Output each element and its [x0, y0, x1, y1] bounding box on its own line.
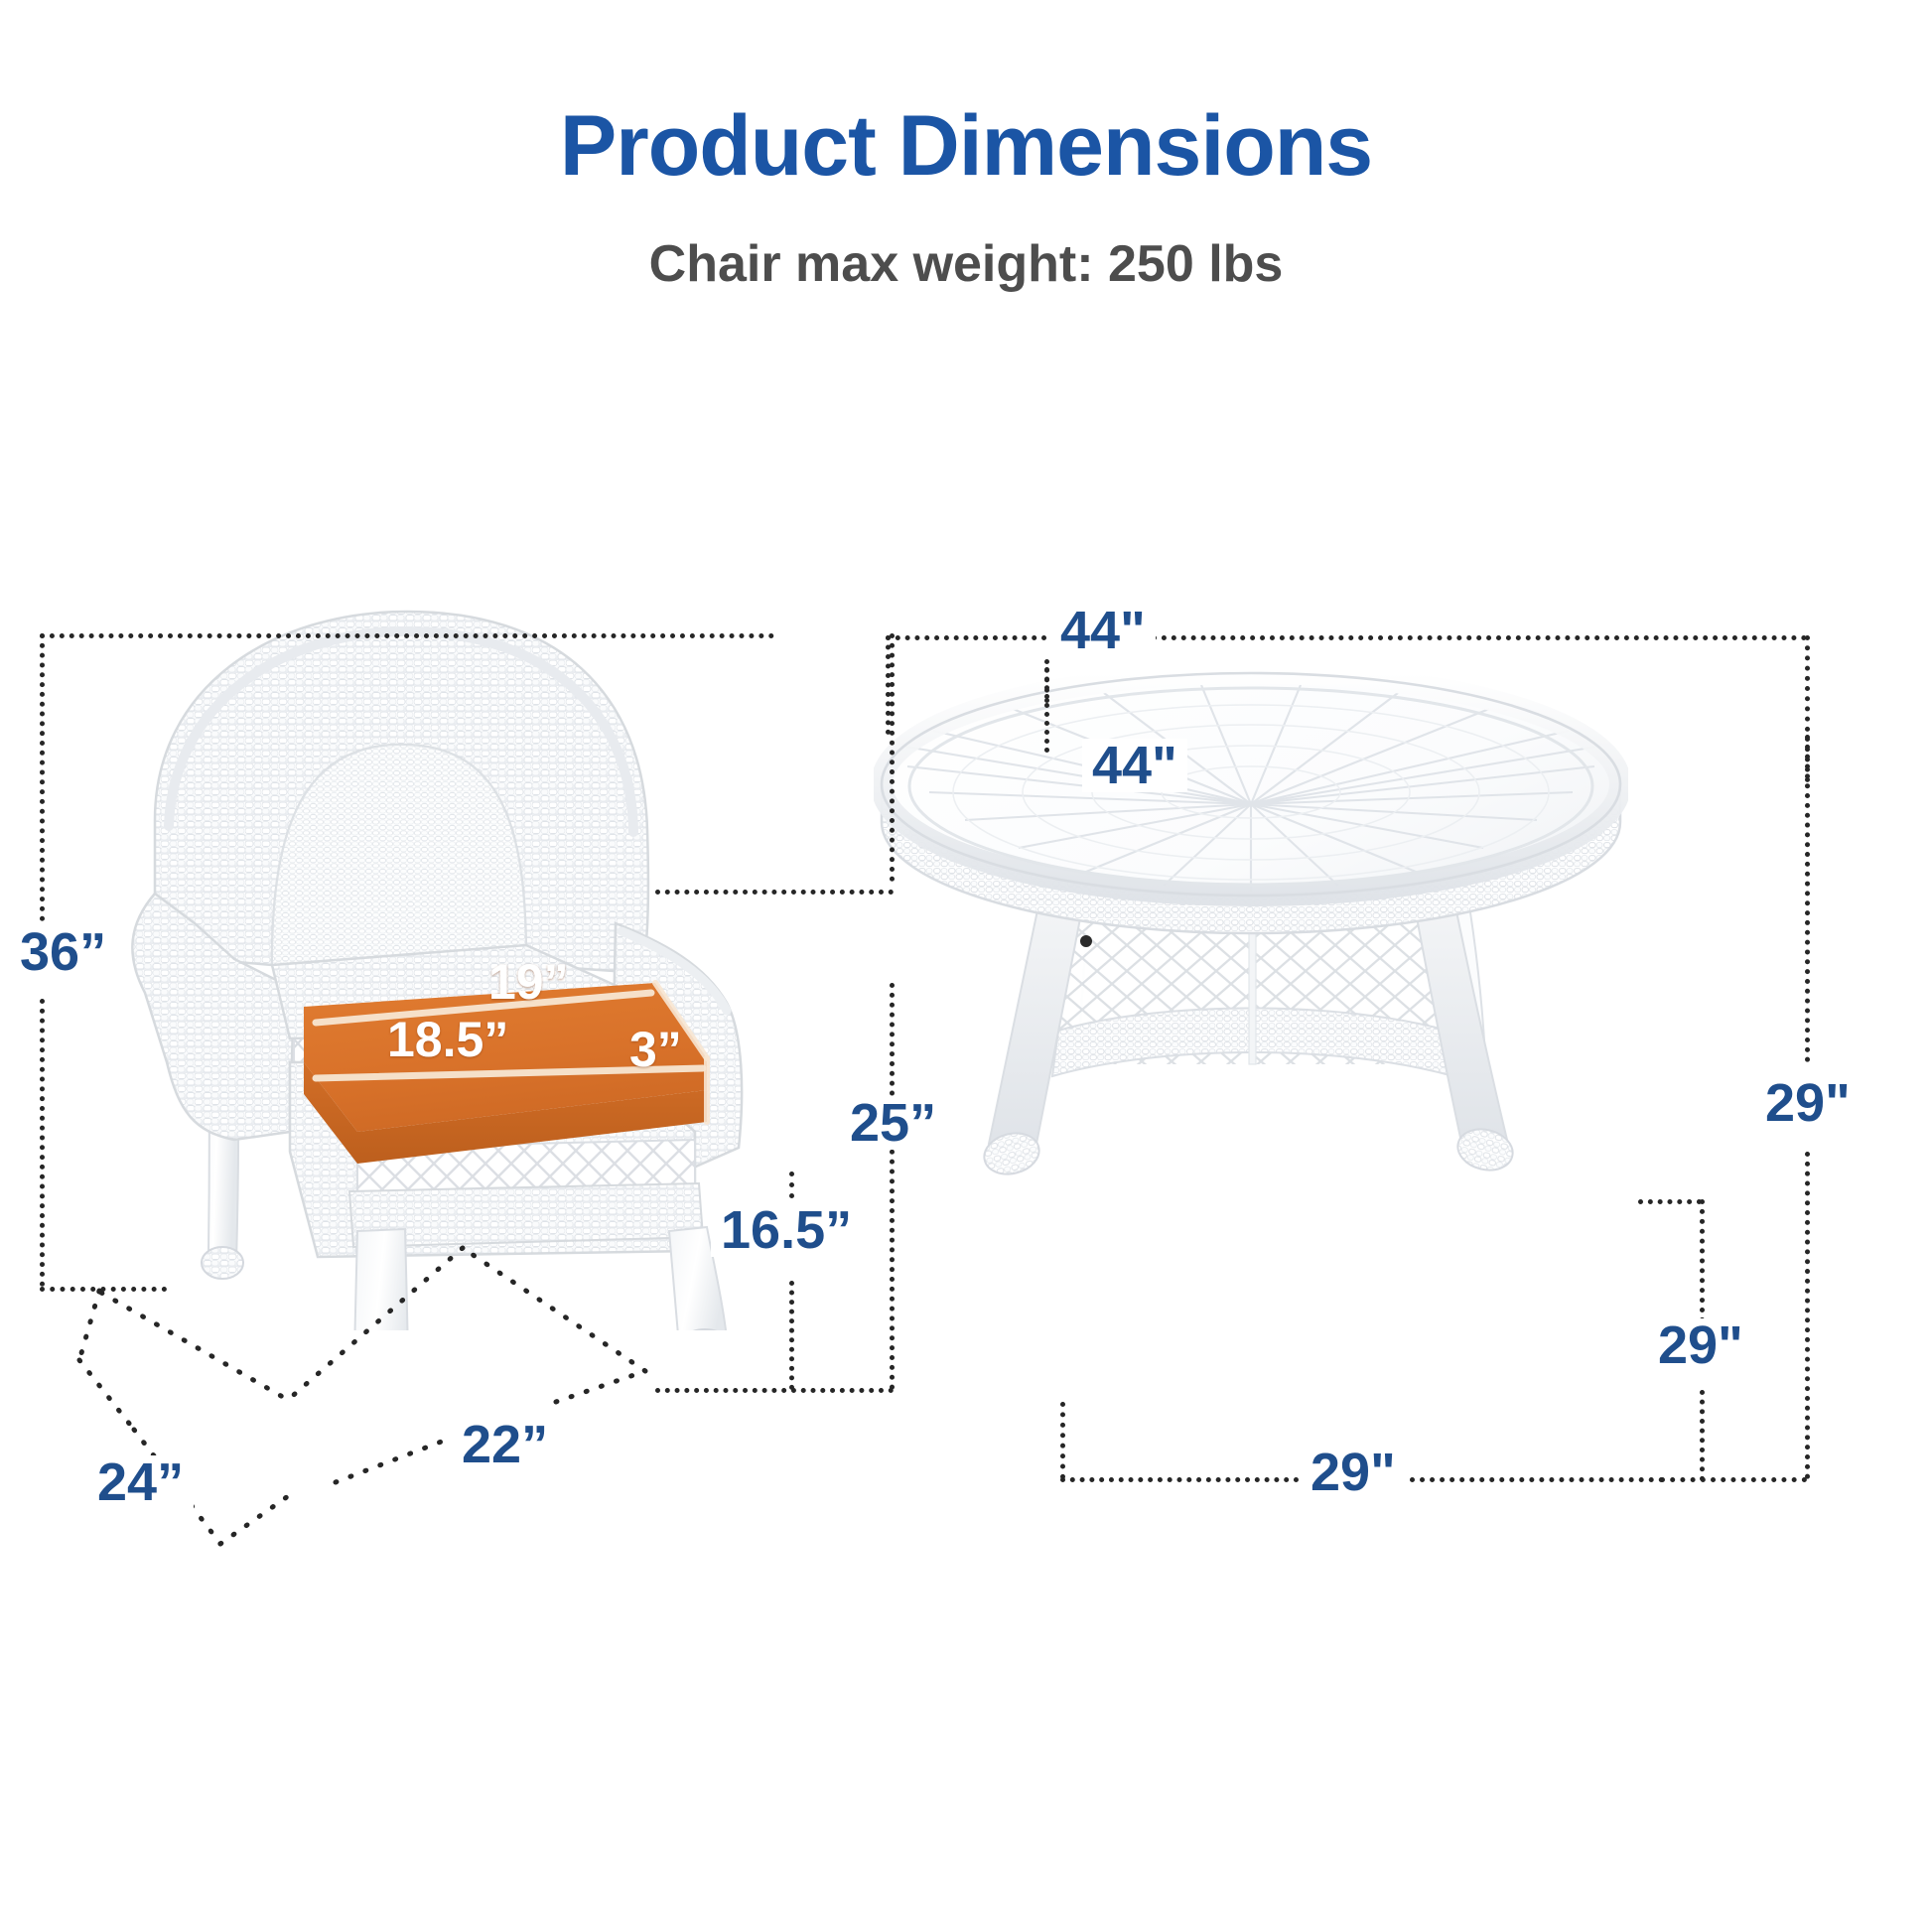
chair-floor-outline — [0, 0, 1932, 1932]
table-44in-depth-label: 44" — [1082, 739, 1187, 792]
table-29in-bottom-a — [1060, 1477, 1309, 1482]
table-29in-bottom-b — [1410, 1477, 1664, 1482]
chair-3in-label: 3” — [629, 1025, 682, 1074]
table-29in-inner-rule-b — [1700, 1390, 1705, 1481]
table-44in-depth-rule-a — [1044, 703, 1049, 753]
table-44in-depth-rule-c — [1044, 667, 1049, 703]
table-44in-rule-a — [886, 635, 1056, 640]
table-29in-width-label: 29" — [1301, 1446, 1406, 1499]
table-29in-inner-rule-a — [1700, 1199, 1705, 1322]
chair-22in-label: 22” — [452, 1418, 558, 1471]
product-dimensions-diagram: Product Dimensions Chair max weight: 250… — [0, 0, 1932, 1932]
table-29in-base-label: 29" — [1648, 1318, 1753, 1372]
chair-18-5in-label: 18.5” — [387, 1015, 508, 1064]
table-29in-inner-top — [1638, 1199, 1702, 1204]
table-44in-top-label: 44" — [1050, 604, 1156, 657]
table-44in-rule-b — [1152, 635, 1807, 640]
table-29in-height-label: 29" — [1755, 1076, 1861, 1130]
table-29in-outer-bot — [1660, 1477, 1807, 1482]
table-29in-outer-rule-b — [1805, 1152, 1810, 1479]
table-29in-bottom-drop — [1060, 1402, 1065, 1479]
table-44in-left-drop — [886, 635, 891, 735]
chair-19in-label: 19” — [488, 957, 569, 1007]
chair-24in-label: 24” — [87, 1455, 194, 1509]
table-29in-outer-rule-a — [1805, 735, 1810, 1062]
